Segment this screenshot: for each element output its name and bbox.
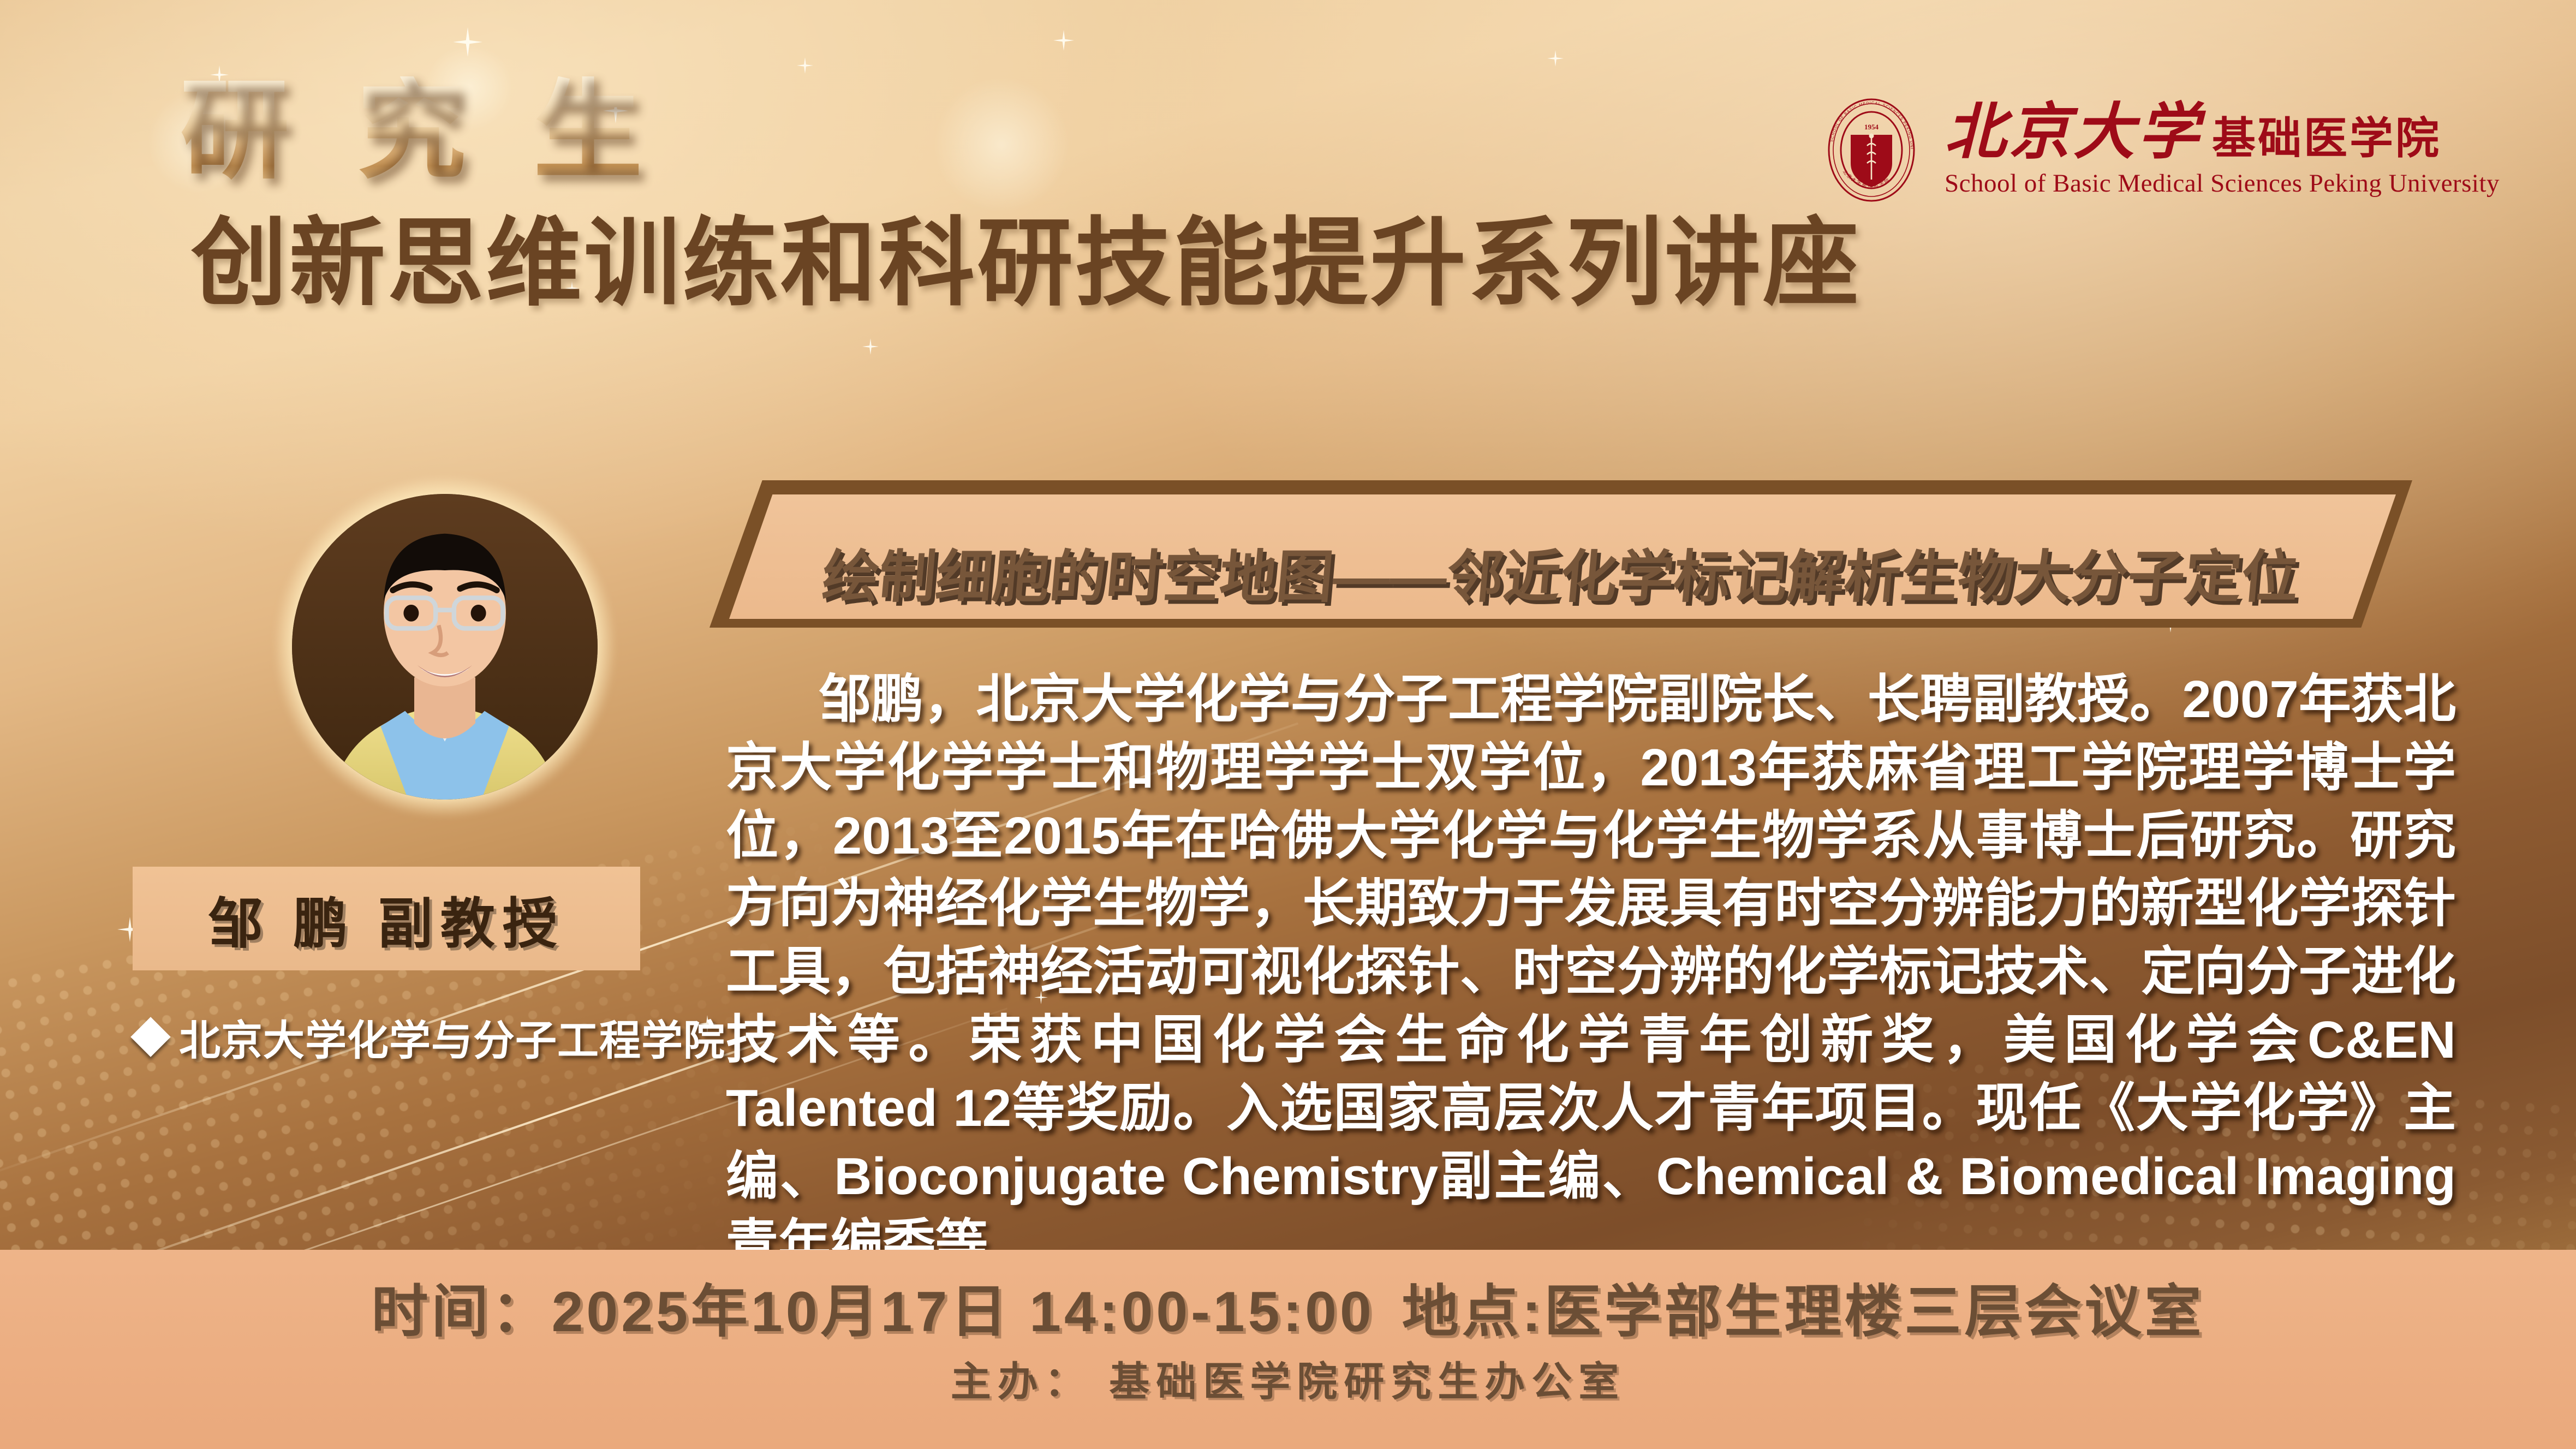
speaker-affiliation: 北京大学化学与分子工程学院 (136, 1007, 725, 1067)
logo-wordmark: 北京大学 基础医学院 School of Basic Medical Scien… (1945, 102, 2500, 198)
speaker-portrait (292, 494, 598, 800)
logo-name-en: School of Basic Medical Sciences Peking … (1945, 169, 2500, 198)
time-label: 时间： (372, 1280, 552, 1344)
speaker-bio: 邹鹏，北京大学化学与分子工程学院副院长、长聘副教授。2007年获北京大学化学学士… (726, 666, 2456, 1279)
footer-time-location: 时间：2025年10月17日 14:00-15:00地点:医学部生理楼三层会议室 (0, 1265, 2576, 1347)
bio-text: 邹鹏，北京大学化学与分子工程学院副院长、长聘副教授。2007年获北京大学化学学士… (726, 670, 2456, 1273)
diamond-icon (130, 1017, 171, 1057)
location-value: 医学部生理楼三层会议室 (1544, 1280, 2204, 1344)
portrait-image (292, 494, 598, 800)
footer-organizer: 主办： 基础医学院研究生办公室 (0, 1349, 2576, 1408)
headline-main: 研 究 生 (180, 76, 661, 186)
speaker-name-label: 邹 鹏 副教授 (208, 879, 565, 958)
speaker-name-box: 邹 鹏 副教授 (133, 867, 640, 970)
lecture-title-bar: 绘制细胞的时空地图——邻近化学标记解析生物大分子定位 (709, 480, 2412, 628)
poster-root: 研 究 生 创新思维训练和科研技能提升系列讲座 1954 SCHOOL OF B… (0, 0, 2576, 1449)
logo-name-cn-script: 北京大学 (1945, 102, 2202, 163)
logo-name-cn-block: 基础医学院 (2212, 115, 2441, 163)
location-label: 地点: (1402, 1280, 1545, 1344)
svg-text:1954: 1954 (1864, 123, 1879, 131)
poster-headline: 研 究 生 (180, 76, 661, 186)
headline-subtitle: 创新思维训练和科研技能提升系列讲座 (191, 216, 1861, 312)
speaker-affiliation-label: 北京大学化学与分子工程学院 (179, 1007, 725, 1067)
pku-sbms-logo: 1954 SCHOOL OF BASIC MEDICAL SCIENCES PE… (1817, 96, 2500, 205)
time-value: 2025年10月17日 14:00-15:00 (552, 1280, 1375, 1344)
university-seal-icon: 1954 SCHOOL OF BASIC MEDICAL SCIENCES PE… (1817, 96, 1926, 205)
lecture-title-text: 绘制细胞的时空地图——邻近化学标记解析生物大分子定位 (706, 530, 2416, 613)
